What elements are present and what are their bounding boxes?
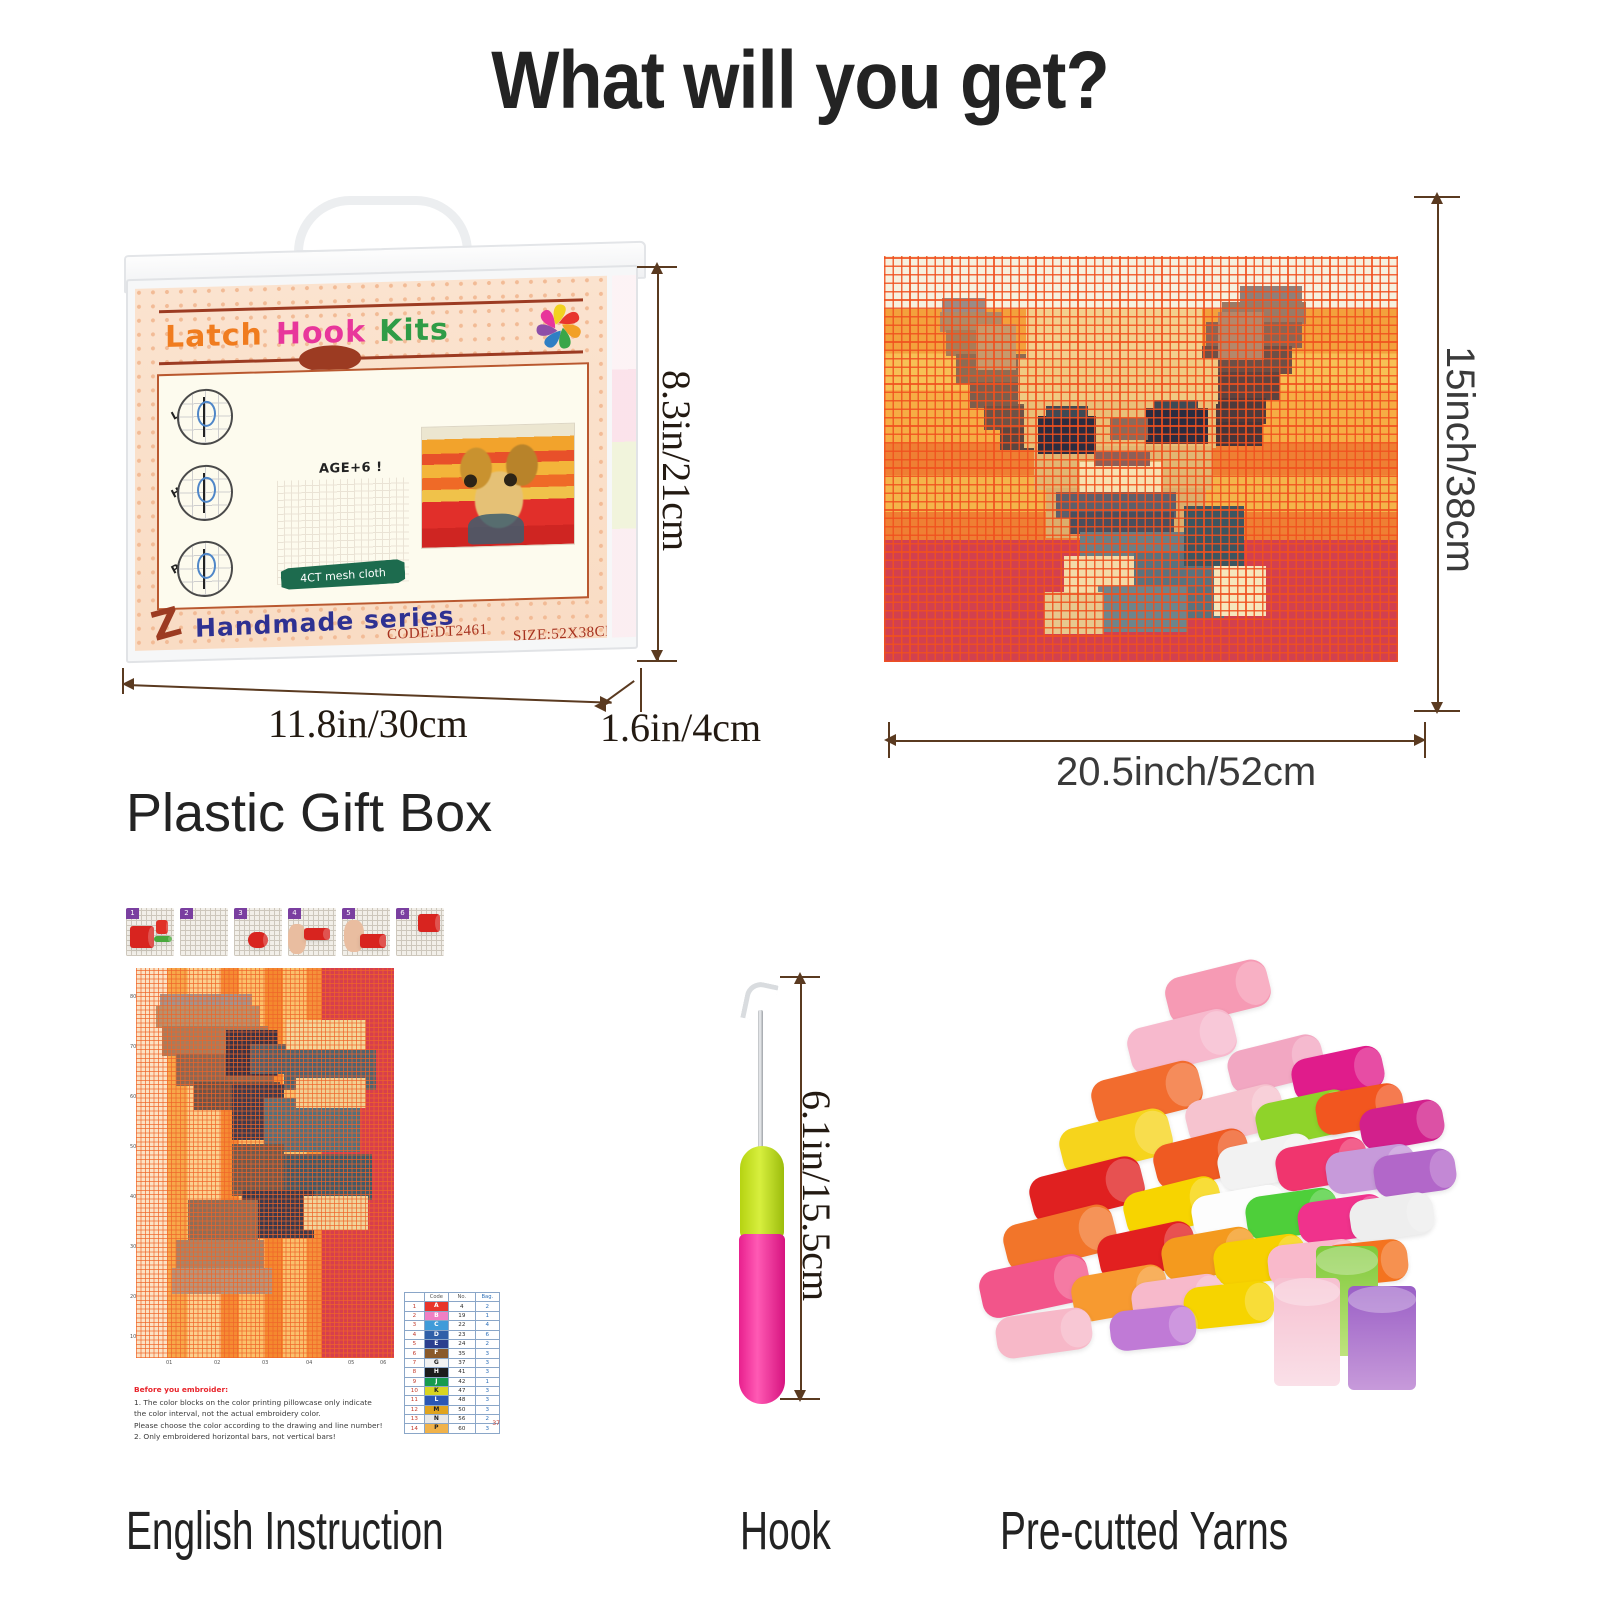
product-size-label: SIZE:52X38CM bbox=[513, 623, 607, 646]
row-bag: 3 bbox=[475, 1386, 499, 1395]
row-code-swatch: L bbox=[424, 1396, 448, 1405]
table-header-row: Code No. Bag. bbox=[405, 1293, 500, 1302]
rug-dog-eyes bbox=[452, 472, 544, 495]
box-body: Latch Hook Kits Loo bbox=[126, 265, 638, 663]
chart-grid-overlay bbox=[136, 968, 394, 1358]
notes-line-2: the color interval, not the actual embro… bbox=[134, 1409, 321, 1418]
row-number: 22 bbox=[449, 1321, 476, 1330]
brand-word-hook: Hook bbox=[276, 314, 366, 352]
table-row: 3C224 bbox=[405, 1321, 500, 1330]
chart-ruler-bottom: 0102 0304 0506 bbox=[136, 1360, 394, 1370]
row-number: 37 bbox=[449, 1358, 476, 1367]
card-instruction-panel: Loop it! Hook it! Pull! bbox=[157, 362, 589, 610]
row-bag: 2 bbox=[475, 1339, 499, 1348]
yarns-caption: Pre-cutted Yarns bbox=[1000, 1500, 1288, 1562]
step-thumbnail-number: 2 bbox=[180, 908, 193, 919]
box-printed-card: Latch Hook Kits Loo bbox=[135, 276, 607, 651]
row-bag: 3 bbox=[475, 1358, 499, 1367]
step-thumbnail: 2 bbox=[180, 908, 228, 956]
notes-line-1: 1. The color blocks on the color printin… bbox=[134, 1398, 372, 1407]
box-width-label: 11.8in/30cm bbox=[268, 700, 468, 747]
step-thumbnail: 4 bbox=[288, 908, 336, 956]
row-number: 4 bbox=[449, 1302, 476, 1311]
row-code-swatch: H bbox=[424, 1368, 448, 1377]
row-bag: 4 bbox=[475, 1321, 499, 1330]
row-index: 7 bbox=[405, 1358, 425, 1367]
row-index: 11 bbox=[405, 1396, 425, 1405]
yarn-bundle bbox=[1108, 1304, 1198, 1353]
row-index: 9 bbox=[405, 1377, 425, 1386]
chart-ruler-left: 8070 6050 4030 2010 bbox=[130, 968, 138, 1358]
finished-rug-photo bbox=[421, 423, 575, 549]
gift-box-caption: Plastic Gift Box bbox=[126, 782, 492, 844]
rug-dog-chest bbox=[468, 513, 524, 545]
hook-handle-pink bbox=[739, 1234, 785, 1404]
row-number: 47 bbox=[449, 1386, 476, 1395]
col-code: Code bbox=[424, 1293, 448, 1302]
box-carry-handle bbox=[294, 196, 472, 252]
row-bag: 6 bbox=[475, 1330, 499, 1339]
z-ribbon-icon: Z bbox=[147, 595, 199, 645]
instruction-caption: English Instruction bbox=[126, 1500, 444, 1562]
mesh-canvas-product-photo bbox=[884, 256, 1398, 662]
table-row: 10K473 bbox=[405, 1386, 500, 1395]
notes-heading: Before you embroider: bbox=[134, 1384, 384, 1396]
step-thumbnail-number: 3 bbox=[234, 908, 247, 919]
notes-line-3: Please choose the color according to the… bbox=[134, 1421, 383, 1430]
thumb-yarn bbox=[156, 920, 168, 934]
row-index: 6 bbox=[405, 1349, 425, 1358]
row-index: 4 bbox=[405, 1330, 425, 1339]
step-thumbnail-number: 4 bbox=[288, 908, 301, 919]
row-index: 5 bbox=[405, 1339, 425, 1348]
thumb-hook bbox=[154, 936, 172, 942]
gift-box-product-photo: Latch Hook Kits Loo bbox=[118, 196, 648, 666]
row-number: 24 bbox=[449, 1339, 476, 1348]
row-bag: 1 bbox=[475, 1311, 499, 1320]
row-index: 12 bbox=[405, 1405, 425, 1414]
page-title: What will you get? bbox=[96, 34, 1504, 128]
box-contents-sliver bbox=[612, 275, 638, 638]
row-index: 10 bbox=[405, 1386, 425, 1395]
col-no: No. bbox=[449, 1293, 476, 1302]
row-number: 35 bbox=[449, 1349, 476, 1358]
hook-caption: Hook bbox=[740, 1500, 831, 1562]
table-row: 7G373 bbox=[405, 1358, 500, 1367]
step-thumbnail: 6 bbox=[396, 908, 444, 956]
precut-yarns-product-photo bbox=[956, 956, 1456, 1426]
box-depth-label: 1.6in/4cm bbox=[600, 704, 761, 751]
table-row: 6F353 bbox=[405, 1349, 500, 1358]
notes-line-4: 2. Only embroidered horizontal bars, not… bbox=[134, 1432, 336, 1441]
row-number: 23 bbox=[449, 1330, 476, 1339]
canvas-height-label: 15inch/38cm bbox=[1437, 346, 1482, 573]
step-thumbnail: 1 bbox=[126, 908, 174, 956]
table-row: 5E242 bbox=[405, 1339, 500, 1348]
yarn-bundle-standing bbox=[1348, 1286, 1416, 1390]
row-code-swatch: F bbox=[424, 1349, 448, 1358]
row-number: 48 bbox=[449, 1396, 476, 1405]
thumb-yarn bbox=[130, 926, 154, 948]
brand-lockup: Latch Hook Kits bbox=[165, 300, 525, 364]
row-code-swatch: B bbox=[424, 1311, 448, 1320]
row-bag: 3 bbox=[475, 1396, 499, 1405]
row-bag: 3 bbox=[475, 1368, 499, 1377]
table-row: 4D236 bbox=[405, 1330, 500, 1339]
table-row: 9J421 bbox=[405, 1377, 500, 1386]
row-code-swatch: K bbox=[424, 1386, 448, 1395]
row-bag: 2 bbox=[475, 1302, 499, 1311]
row-index: 1 bbox=[405, 1302, 425, 1311]
row-index: 3 bbox=[405, 1321, 425, 1330]
mesh-canvas bbox=[884, 256, 1398, 662]
mesh-grid-overlay bbox=[884, 256, 1398, 662]
step-thumbnail-number: 6 bbox=[396, 908, 409, 919]
row-code-swatch: D bbox=[424, 1330, 448, 1339]
english-instruction-sheet: 1 2 3 4 5 bbox=[126, 908, 432, 1468]
box-height-label: 8.3in/21cm bbox=[653, 370, 700, 551]
yarn-table-total: 37 bbox=[404, 1420, 500, 1427]
hook-handle-green bbox=[740, 1146, 784, 1238]
row-code-swatch: A bbox=[424, 1302, 448, 1311]
yarn-bundle-standing bbox=[1274, 1278, 1340, 1386]
brand-word-kits: Kits bbox=[379, 312, 449, 349]
step-diagram-loop bbox=[177, 388, 233, 446]
yarn-color-table: Code No. Bag. 1A422B1913C2244D2365E2426F… bbox=[404, 1292, 500, 1434]
thumb-yarn bbox=[418, 914, 440, 932]
step-diagram-hook bbox=[177, 464, 233, 522]
row-number: 42 bbox=[449, 1377, 476, 1386]
col-bag: Bag. bbox=[475, 1293, 499, 1302]
row-code-swatch: E bbox=[424, 1339, 448, 1348]
row-code-swatch: C bbox=[424, 1321, 448, 1330]
row-code-swatch: G bbox=[424, 1358, 448, 1367]
step-thumbnail-number: 5 bbox=[342, 908, 355, 919]
before-you-embroider-notes: Before you embroider: 1. The color block… bbox=[134, 1384, 384, 1443]
table-row: 2B191 bbox=[405, 1311, 500, 1320]
row-index: 2 bbox=[405, 1311, 425, 1320]
thumb-yarn bbox=[360, 934, 386, 948]
step-thumbnail-strip: 1 2 3 4 5 bbox=[126, 908, 444, 960]
step-thumbnail-number: 1 bbox=[126, 908, 139, 919]
row-number: 50 bbox=[449, 1405, 476, 1414]
table-row: 8H413 bbox=[405, 1368, 500, 1377]
thumb-yarn bbox=[304, 928, 330, 940]
row-index: 8 bbox=[405, 1368, 425, 1377]
printed-color-chart bbox=[136, 968, 394, 1358]
thumb-yarn bbox=[248, 932, 268, 948]
thumb-finger bbox=[288, 924, 306, 954]
row-code-swatch: M bbox=[424, 1405, 448, 1414]
table-row: 1A42 bbox=[405, 1302, 500, 1311]
pinwheel-logo-icon bbox=[531, 298, 587, 356]
step-thumbnail: 5 bbox=[342, 908, 390, 956]
row-bag: 1 bbox=[475, 1377, 499, 1386]
age-recommendation-label: AGE+6 ! bbox=[319, 460, 383, 477]
brand-word-latch: Latch bbox=[165, 317, 263, 355]
hook-shaft bbox=[758, 1010, 763, 1150]
table-row: 12M503 bbox=[405, 1405, 500, 1414]
canvas-width-label: 20.5inch/52cm bbox=[1056, 750, 1316, 795]
row-bag: 3 bbox=[475, 1405, 499, 1414]
hook-length-label: 6.1in/15.5cm bbox=[793, 1090, 840, 1301]
step-thumbnail: 3 bbox=[234, 908, 282, 956]
row-bag: 3 bbox=[475, 1349, 499, 1358]
table-row: 11L483 bbox=[405, 1396, 500, 1405]
step-diagram-pull bbox=[177, 540, 233, 598]
row-code-swatch: J bbox=[424, 1377, 448, 1386]
infographic-page: What will you get? Latch Hook Kits bbox=[0, 0, 1600, 1600]
col-index bbox=[405, 1293, 425, 1302]
row-number: 41 bbox=[449, 1368, 476, 1377]
row-number: 19 bbox=[449, 1311, 476, 1320]
